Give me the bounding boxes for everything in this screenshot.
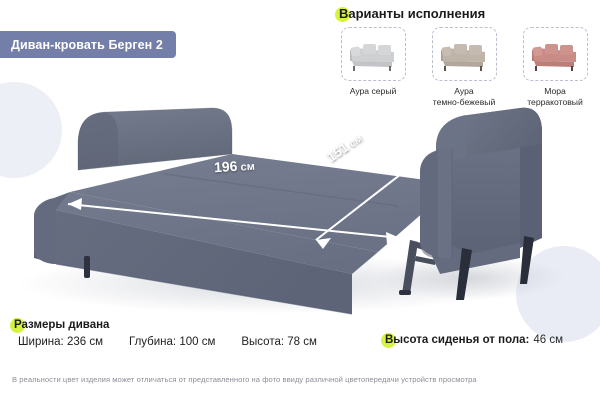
variant-item-2[interactable]: Мора терракотовый [515, 27, 595, 107]
variant-item-0[interactable]: Аура серый [333, 27, 413, 107]
measurement-width-label: Ширина: [18, 336, 64, 348]
dimension-length-value: 196 [214, 158, 238, 175]
sofa-dimensions-heading: Размеры дивана [14, 319, 109, 331]
measurement-depth: Глубина: 100 см [129, 336, 215, 348]
variant-item-1[interactable]: Аура темно-бежевый [424, 27, 504, 107]
seat-height-value: 46 см [533, 334, 563, 346]
sofa-thumbnail-gray-icon [342, 28, 405, 80]
product-title-badge: Диван-кровать Берген 2 [0, 31, 176, 58]
measurement-height-label: Высота: [241, 336, 284, 348]
variants-heading: Варианты исполнения [339, 6, 485, 21]
sofa-thumbnail-terracotta-icon [524, 28, 587, 80]
product-title: Диван-кровать Берген 2 [11, 38, 163, 52]
variant-thumbnail-1[interactable] [432, 27, 497, 81]
measurement-height: Высота: 78 см [241, 336, 317, 348]
infographic-canvas: 196 см 151 см Диван-кровать Берген 2 Вар… [0, 0, 600, 400]
variant-thumbnail-0[interactable] [341, 27, 406, 81]
measurement-height-value: 78 см [287, 336, 317, 348]
variant-label-1: Аура темно-бежевый [433, 86, 496, 107]
variant-label-2: Мора терракотовый [527, 86, 583, 107]
variant-label-0: Аура серый [350, 86, 397, 97]
variant-list: Аура серый Аура темно-бежевый [333, 27, 595, 107]
sofa-bed-illustration [0, 88, 600, 316]
measurement-width-value: 236 см [67, 336, 103, 348]
variants-heading-label: Варианты исполнения [339, 6, 485, 21]
sofa-dimensions-list: Ширина: 236 см Глубина: 100 см Высота: 7… [18, 336, 343, 348]
sofa-dimensions-heading-label: Размеры дивана [14, 319, 109, 331]
dimension-length-unit: см [240, 161, 255, 174]
seat-height-label: Высота сиденья от пола: [385, 334, 529, 346]
sofa-leg-front-left [84, 256, 90, 278]
seat-height-block: Высота сиденья от пола: 46 см [385, 334, 563, 346]
variant-thumbnail-2[interactable] [523, 27, 588, 81]
sofa-thumbnail-beige-icon [433, 28, 496, 80]
measurement-depth-value: 100 см [179, 336, 215, 348]
dimension-label-length: 196 см [214, 157, 256, 175]
color-disclaimer: В реальности цвет изделия может отличать… [12, 375, 592, 384]
measurement-width: Ширина: 236 см [18, 336, 103, 348]
measurement-depth-label: Глубина: [129, 336, 176, 348]
